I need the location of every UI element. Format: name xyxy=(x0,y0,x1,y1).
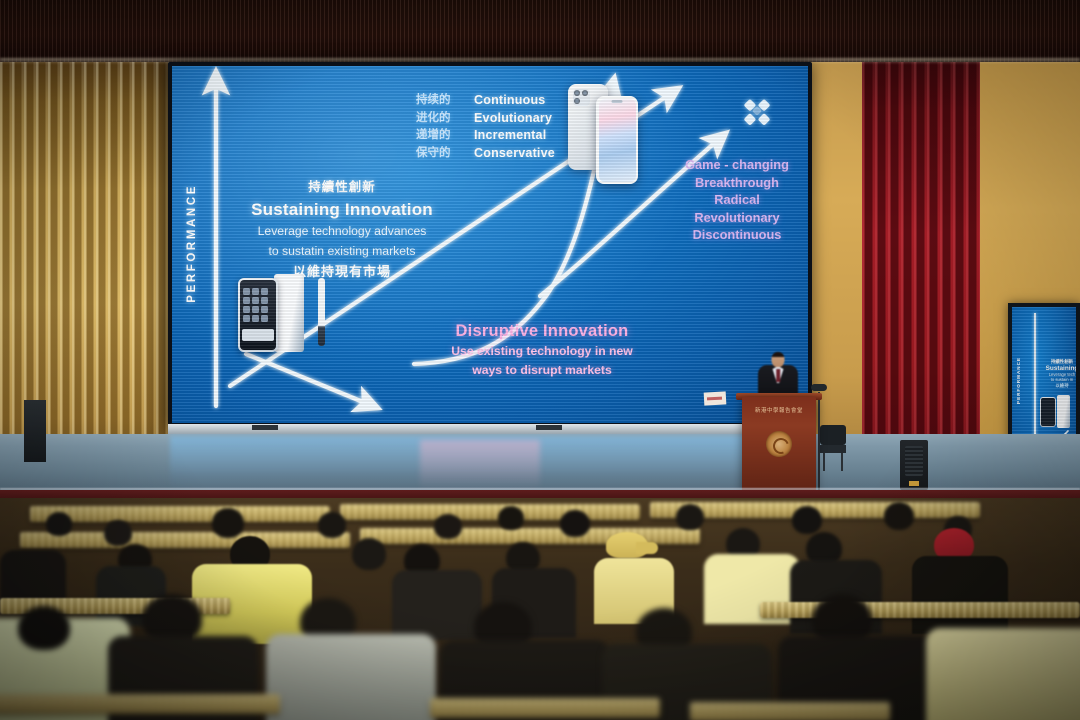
audience-head xyxy=(212,508,244,538)
audience-head xyxy=(676,504,704,530)
auditorium-bench-row xyxy=(30,506,330,522)
stage-reflection-warm xyxy=(420,440,540,490)
podium-inscription: 新港中學報告會堂 xyxy=(742,406,816,414)
radical-group-block: Game - changing Breakthrough Radical Rev… xyxy=(672,156,802,244)
spiral-seal-emblem xyxy=(766,431,792,457)
legacy-smartphone-icon xyxy=(238,278,278,352)
seated-audience xyxy=(0,498,1080,720)
sustaining-subtitle-1: Leverage technology advances xyxy=(226,224,458,240)
en-continuous: Continuous xyxy=(474,92,555,110)
disruptive-innovation-block: Disruptive Innovation Use existing techn… xyxy=(422,322,662,378)
label-radical: Radical xyxy=(672,191,802,209)
en-evolutionary: Evolutionary xyxy=(474,110,555,128)
continuous-chinese-column: 持续的 进化的 递增的 保守的 xyxy=(416,92,451,162)
microphone-stand xyxy=(818,392,820,490)
performance-axis-label: PERFORMANCE xyxy=(186,184,198,303)
modern-smartphone-front-icon xyxy=(596,96,638,184)
disruptive-subtitle-1: Use existing technology in new xyxy=(422,344,662,360)
microphone-head xyxy=(811,384,827,391)
floor-loudspeaker xyxy=(900,440,928,490)
audience-cream-jacket xyxy=(926,628,1080,720)
sustaining-innovation-block: 持續性創新 Sustaining Innovation Leverage tec… xyxy=(226,176,458,280)
label-discontinuous: Discontinuous xyxy=(672,226,802,244)
label-revolutionary: Revolutionary xyxy=(672,209,802,227)
cn-incremental: 递增的 xyxy=(416,127,451,145)
podium: 新港中學報告會堂 xyxy=(742,397,816,492)
auditorium-bench-row xyxy=(760,602,1080,618)
disruptive-subtitle-2: ways to disrupt markets xyxy=(422,363,662,379)
trim-mark xyxy=(536,425,562,430)
continuous-english-column: Continuous Evolutionary Incremental Cons… xyxy=(474,92,555,162)
en-incremental: Incremental xyxy=(474,127,555,145)
led-screen-bezel: PERFORMANCE 持续的 进化的 递增的 保守的 Continuous E… xyxy=(168,62,812,428)
legacy-phone-box xyxy=(274,274,304,352)
auditorium-bench-row xyxy=(0,694,280,714)
auditorium-bench-row xyxy=(690,702,890,720)
audience-head xyxy=(498,506,524,530)
stylus-pen-icon xyxy=(318,278,325,346)
sustaining-chinese-title: 持續性創新 xyxy=(226,176,458,195)
audience-head xyxy=(560,510,590,537)
stage-left-speaker xyxy=(24,400,46,462)
label-game-changing: Game - changing xyxy=(672,156,802,174)
auditorium-bench-row xyxy=(430,698,660,718)
audience-head xyxy=(792,506,822,534)
audience-head xyxy=(434,514,462,539)
auditorium-bench-row xyxy=(20,532,350,548)
trim-mark xyxy=(252,425,278,430)
stage-chair xyxy=(820,425,846,471)
audience-head xyxy=(318,512,346,538)
ceiling-valance xyxy=(0,0,1080,62)
sustaining-subtitle-2: to sustatin existing markets xyxy=(226,244,458,260)
disruptive-title: Disruptive Innovation xyxy=(422,322,662,341)
cn-conservative: 保守的 xyxy=(416,145,451,163)
presentation-slide: PERFORMANCE 持续的 进化的 递增的 保守的 Continuous E… xyxy=(172,66,808,423)
audience-head xyxy=(46,512,72,536)
audience-cap-brim xyxy=(636,542,658,554)
label-breakthrough: Breakthrough xyxy=(672,174,802,192)
audience-gray-hoodie xyxy=(266,634,436,720)
audience-head xyxy=(884,502,914,530)
audience-head xyxy=(18,606,70,650)
podium-papers xyxy=(704,391,727,405)
en-conservative: Conservative xyxy=(474,145,555,163)
audience-head xyxy=(352,538,386,570)
cn-evolutionary: 进化的 xyxy=(416,110,451,128)
audience-torso xyxy=(912,556,1008,634)
cn-continuous: 持续的 xyxy=(416,92,451,110)
lecture-hall-screenshot: PERFORMANCE 持续的 进化的 递增的 保守的 Continuous E… xyxy=(0,0,1080,720)
auditorium-bench-row xyxy=(340,504,640,520)
audience-head xyxy=(104,520,132,546)
audience-torso xyxy=(392,570,482,640)
sustaining-title: Sustaining Innovation xyxy=(226,200,458,220)
